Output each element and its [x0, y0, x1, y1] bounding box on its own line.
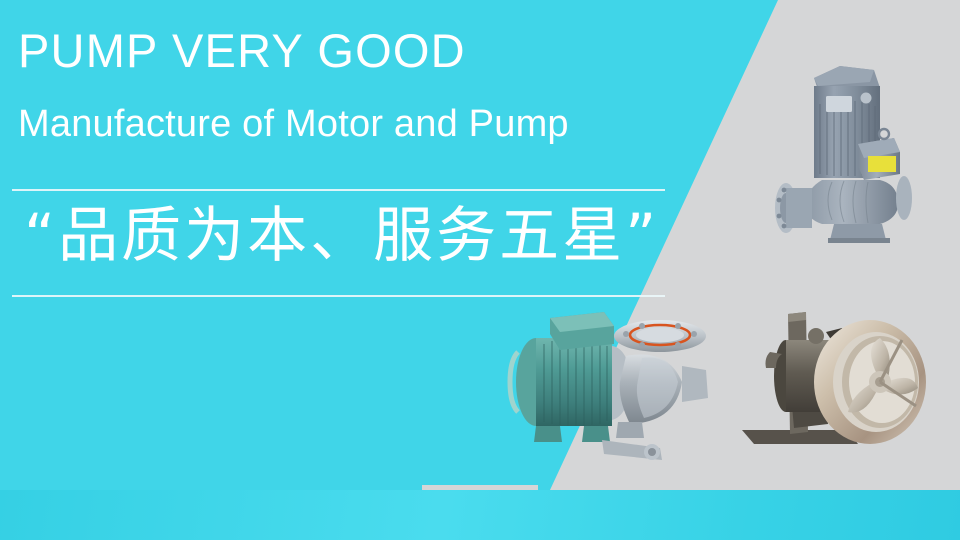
cable-gland — [879, 129, 889, 139]
page-subtitle: Manufacture of Motor and Pump — [18, 105, 569, 143]
page-title: PUMP VERY GOOD — [18, 26, 466, 76]
pump-base-plate — [828, 238, 890, 243]
motor-nameplate — [826, 96, 852, 112]
product-image-submersible-mixer — [730, 290, 935, 460]
divider-top — [12, 189, 665, 191]
motor-foot-front — [582, 426, 610, 442]
terminal-box-label — [868, 156, 896, 172]
product-image-vertical-inline-pipeline-pump — [762, 48, 932, 248]
product-image-horizontal-centrifugal-pump — [492, 300, 732, 465]
motor-body — [536, 338, 612, 426]
background-cyan-footer-band — [0, 490, 960, 540]
divider-bottom — [12, 295, 665, 297]
promo-banner: PUMP VERY GOOD Manufacture of Motor and … — [0, 0, 960, 540]
motor-foot-rear — [534, 426, 562, 442]
motor-fan-cap — [861, 93, 872, 104]
top-boss — [808, 328, 824, 344]
pump-volute-casing — [806, 180, 898, 224]
flange-bore — [636, 328, 684, 343]
casing-support-foot — [616, 422, 644, 438]
suction-flange — [682, 366, 708, 402]
base-eye-hole — [648, 448, 656, 456]
discharge-flange — [896, 176, 912, 220]
pump-base-pedestal — [830, 224, 886, 240]
suction-nozzle — [786, 188, 812, 228]
slogan-text: “品质为本、服务五星” — [24, 206, 659, 266]
